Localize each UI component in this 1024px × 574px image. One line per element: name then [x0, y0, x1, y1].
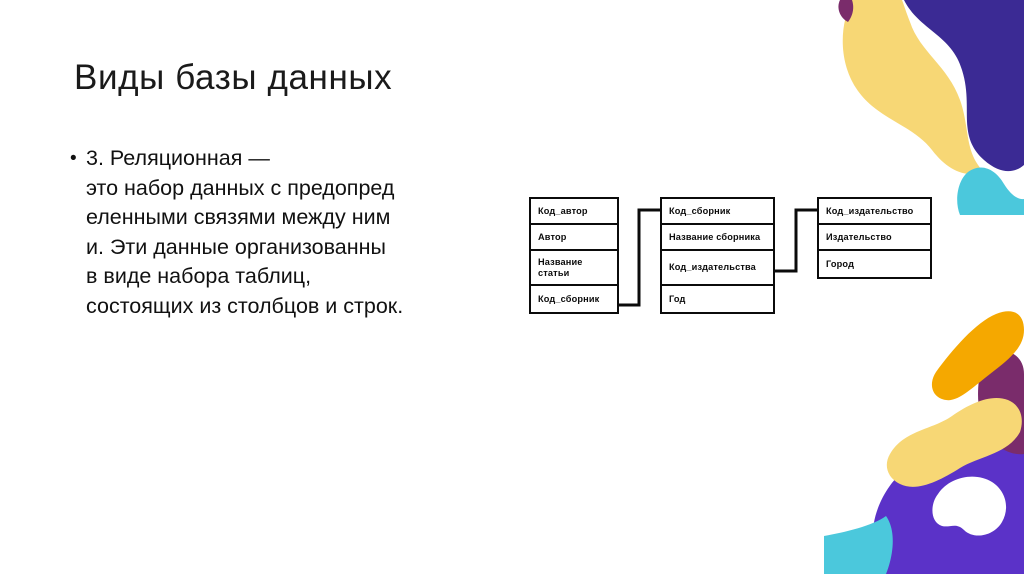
deco-shape-orange	[932, 311, 1024, 400]
er-field: Город	[819, 251, 930, 277]
relation-line-sbornik-izdatelstvo	[775, 210, 817, 271]
er-field: Название сборника	[662, 225, 773, 251]
er-field: Код_издательства	[662, 251, 773, 286]
er-field: Код_автор	[531, 199, 617, 225]
decorative-blob-bottom-right	[824, 304, 1024, 574]
deco-shape-cyan-2	[824, 516, 893, 574]
er-table-izdatelstvo: Код_издательство Издательство Город	[817, 197, 932, 279]
list-item: • 3. Реляционная — это набор данных с пр…	[70, 144, 510, 321]
er-field: Год	[662, 286, 773, 312]
er-field: Автор	[531, 225, 617, 251]
deco-shape-magenta	[838, 0, 853, 22]
deco-shape-yellow	[843, 0, 984, 174]
er-field: Название статьи	[531, 251, 617, 286]
deco-shape-violet	[872, 400, 1024, 574]
body-content: • 3. Реляционная — это набор данных с пр…	[70, 144, 510, 321]
deco-shape-yellow-2	[887, 398, 1022, 487]
slide-canvas: Виды базы данных • 3. Реляционная — это …	[0, 0, 1024, 574]
bullet-marker-icon: •	[70, 144, 86, 174]
er-field: Издательство	[819, 225, 930, 251]
deco-shape-white-cut	[932, 477, 1006, 536]
er-table-sbornik: Код_сборник Название сборника Код_издате…	[660, 197, 775, 314]
page-title: Виды базы данных	[74, 58, 392, 98]
deco-shape-cyan	[957, 168, 1024, 215]
decorative-blob-top-right	[834, 0, 1024, 215]
er-table-author: Код_автор Автор Название статьи Код_сбор…	[529, 197, 619, 314]
deco-shape-indigo	[904, 0, 1024, 171]
er-field: Код_издательство	[819, 199, 930, 225]
er-field: Код_сборник	[662, 199, 773, 225]
er-field: Код_сборник	[531, 286, 617, 312]
relation-line-author-sbornik	[619, 210, 660, 305]
relational-database-er-diagram: Код_автор Автор Название статьи Код_сбор…	[515, 185, 945, 335]
bullet-text: 3. Реляционная — это набор данных с пред…	[86, 144, 403, 321]
deco-shape-plum	[978, 351, 1024, 454]
